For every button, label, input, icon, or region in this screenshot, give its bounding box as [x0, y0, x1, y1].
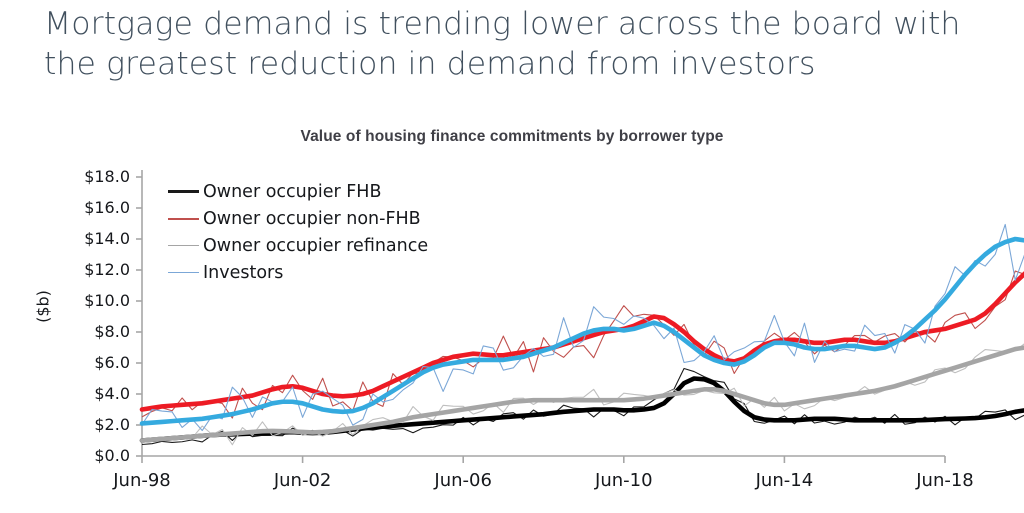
legend-line-swatch	[168, 272, 199, 273]
y-tick-label: $16.0	[58, 198, 130, 217]
legend-line-swatch	[168, 190, 199, 193]
y-tick-label: $12.0	[58, 260, 130, 279]
y-tick-label: $10.0	[58, 291, 130, 310]
y-tick-label: $2.0	[58, 415, 130, 434]
x-tick-label: Jun-14	[724, 470, 844, 491]
series-trend-line	[142, 348, 1024, 441]
chart-legend: Owner occupier FHBOwner occupier non-FHB…	[168, 179, 428, 285]
y-axis-label: ($b)	[34, 257, 53, 357]
x-tick-label: Jun-02	[243, 470, 363, 491]
legend-item[interactable]: Owner occupier FHB	[168, 179, 428, 204]
y-tick-label: $8.0	[58, 322, 130, 341]
legend-item[interactable]: Investors	[168, 260, 428, 285]
legend-item-label: Investors	[203, 263, 283, 283]
page-headline: Mortgage demand is trending lower across…	[44, 4, 994, 84]
legend-item[interactable]: Owner occupier non-FHB	[168, 206, 428, 231]
y-tick-label: $18.0	[58, 167, 130, 186]
x-tick-label: Jun-18	[885, 470, 1005, 491]
legend-line-swatch	[168, 245, 199, 246]
chart-container: Value of housing finance commitments by …	[0, 110, 1024, 513]
series-3	[142, 343, 1024, 445]
x-tick-label: Jun-06	[403, 470, 523, 491]
y-tick-label: $14.0	[58, 229, 130, 248]
legend-item-label: Owner occupier refinance	[203, 236, 428, 256]
x-tick-label: Jun-98	[82, 470, 202, 491]
y-tick-label: $0.0	[58, 446, 130, 465]
legend-line-swatch	[168, 218, 199, 220]
y-tick-label: $6.0	[58, 353, 130, 372]
legend-item[interactable]: Owner occupier refinance	[168, 233, 428, 258]
y-tick-label: $4.0	[58, 384, 130, 403]
legend-item-label: Owner occupier non-FHB	[203, 209, 421, 229]
legend-item-label: Owner occupier FHB	[203, 182, 381, 202]
x-tick-label: Jun-10	[564, 470, 684, 491]
chart-plot	[0, 110, 1024, 513]
